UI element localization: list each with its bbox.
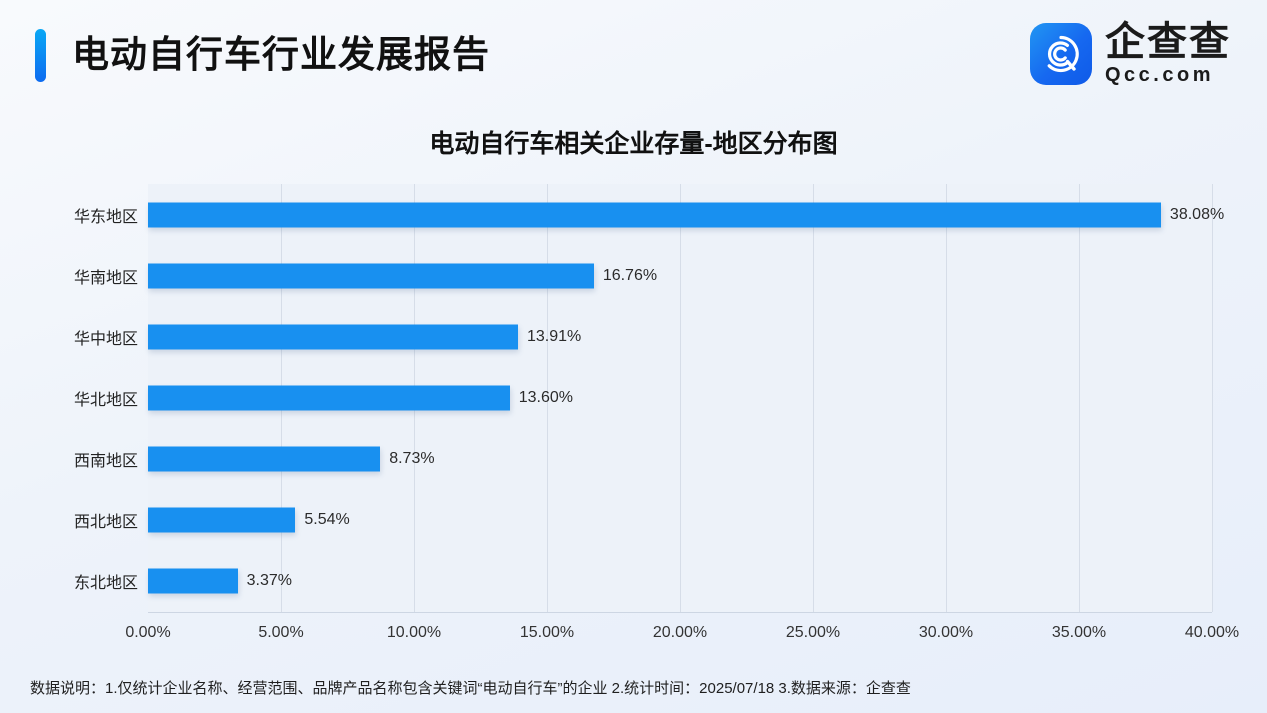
bar-value-label: 38.08% [1170,206,1224,224]
bar[interactable] [148,263,594,288]
page-title: 电动自行车行业发展报告 [72,28,490,82]
gridline [1079,184,1080,612]
y-axis-category-label: 西北地区 [0,508,138,532]
y-axis-category-label: 华中地区 [0,325,138,349]
bar-value-label: 13.91% [527,328,581,346]
y-axis-category-label: 华北地区 [0,386,138,410]
y-axis-category-label: 华东地区 [0,203,138,227]
gridline [1212,184,1213,612]
y-axis-category-label: 西南地区 [0,447,138,471]
bar-value-label: 13.60% [519,389,573,407]
x-axis-line [148,612,1212,613]
qcc-logo-icon [1030,23,1092,85]
bar[interactable] [148,508,295,533]
gridline [680,184,681,612]
footer: 数据说明：1.仅统计企业名称、经营范围、品牌产品名称包含关键词“电动自行车”的企… [0,661,1267,713]
bar-value-label: 5.54% [304,511,349,529]
x-tick-label: 15.00% [520,624,574,642]
bar-value-label: 16.76% [603,267,657,285]
x-tick-label: 5.00% [258,624,303,642]
gridline [946,184,947,612]
x-tick-label: 0.00% [125,624,170,642]
brand-logo: 企查查 Qcc.com [1030,22,1231,85]
bar[interactable] [148,569,238,594]
brand-name-en: Qcc.com [1105,65,1231,85]
bar[interactable] [148,202,1161,227]
bar[interactable] [148,447,380,472]
bar-value-label: 3.37% [247,572,292,590]
x-tick-label: 40.00% [1185,624,1239,642]
page-header: 电动自行车行业发展报告 企查查 Qcc.com [0,0,1267,110]
bar[interactable] [148,386,510,411]
y-axis-category-label: 华南地区 [0,264,138,288]
y-axis-category-label: 东北地区 [0,569,138,593]
x-tick-label: 10.00% [387,624,441,642]
bar[interactable] [148,324,518,349]
bar-value-label: 8.73% [389,450,434,468]
x-tick-label: 25.00% [786,624,840,642]
brand-name-cn: 企查查 [1105,22,1231,62]
footer-note: 数据说明：1.仅统计企业名称、经营范围、品牌产品名称包含关键词“电动自行车”的企… [0,677,911,698]
x-tick-label: 30.00% [919,624,973,642]
bar-chart: 0.00%5.00%10.00%15.00%20.00%25.00%30.00%… [0,178,1267,648]
gridline [813,184,814,612]
x-tick-label: 35.00% [1052,624,1106,642]
x-tick-label: 20.00% [653,624,707,642]
title-accent-bar [35,29,46,82]
chart-title: 电动自行车相关企业存量-地区分布图 [0,124,1267,160]
